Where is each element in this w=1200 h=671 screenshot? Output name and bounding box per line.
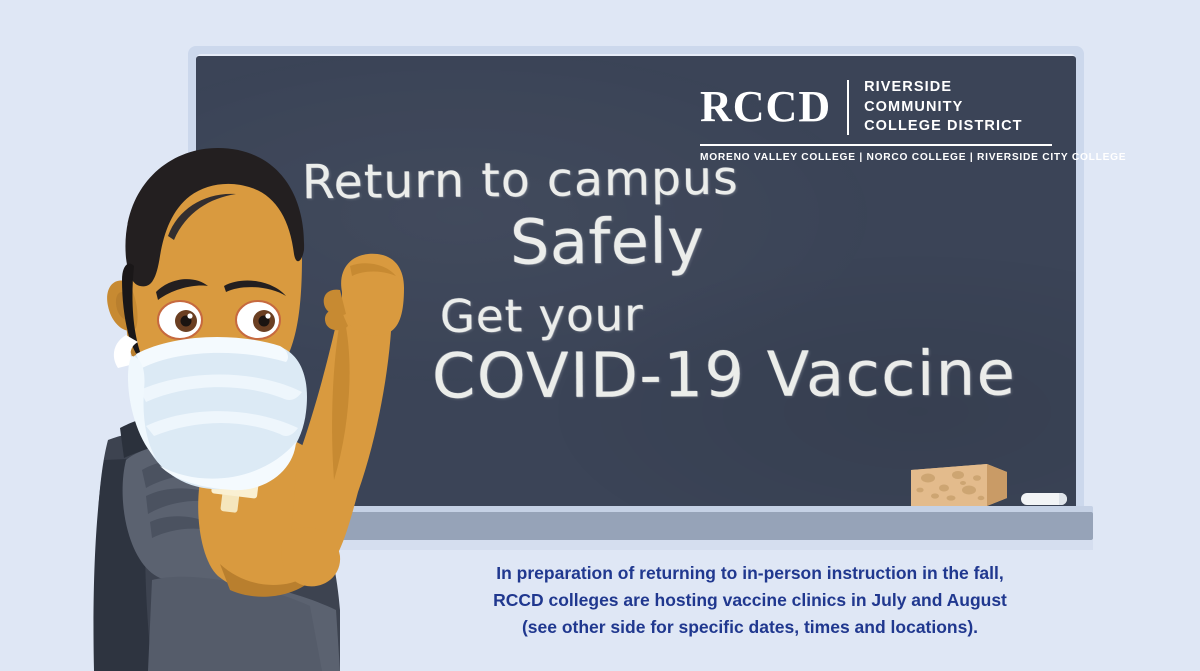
chalk-stick-icon — [1021, 493, 1067, 505]
footer-line-1: In preparation of returning to in-person… — [400, 560, 1100, 587]
logo-colleges-list: MORENO VALLEY COLLEGE | NORCO COLLEGE | … — [700, 152, 1052, 163]
logo-name-line-1: RIVERSIDE COMMUNITY — [864, 78, 1052, 117]
eraser-icon — [911, 464, 1007, 506]
footer-line-2: RCCD colleges are hosting vaccine clinic… — [400, 587, 1100, 614]
poster-canvas: RCCD RIVERSIDE COMMUNITY COLLEGE DISTRIC… — [0, 0, 1200, 671]
eye-right — [236, 301, 280, 339]
logo-horizontal-rule — [700, 144, 1052, 146]
logo-main-row: RCCD RIVERSIDE COMMUNITY COLLEGE DISTRIC… — [700, 78, 1052, 137]
logo-acronym: RCCD — [700, 85, 847, 129]
rccd-logo: RCCD RIVERSIDE COMMUNITY COLLEGE DISTRIC… — [700, 78, 1052, 163]
headline-safely: Safely — [510, 204, 705, 278]
logo-name-line-2: COLLEGE DISTRICT — [864, 117, 1052, 137]
eye-left — [158, 301, 202, 339]
headline-get-your: Get your — [440, 288, 644, 343]
headline-covid-19-vaccine: COVID-19 Vaccine — [432, 336, 1017, 412]
footer-message: In preparation of returning to in-person… — [400, 560, 1100, 641]
logo-district-name: RIVERSIDE COMMUNITY COLLEGE DISTRICT — [849, 78, 1052, 137]
footer-line-3: (see other side for specific dates, time… — [400, 614, 1100, 641]
